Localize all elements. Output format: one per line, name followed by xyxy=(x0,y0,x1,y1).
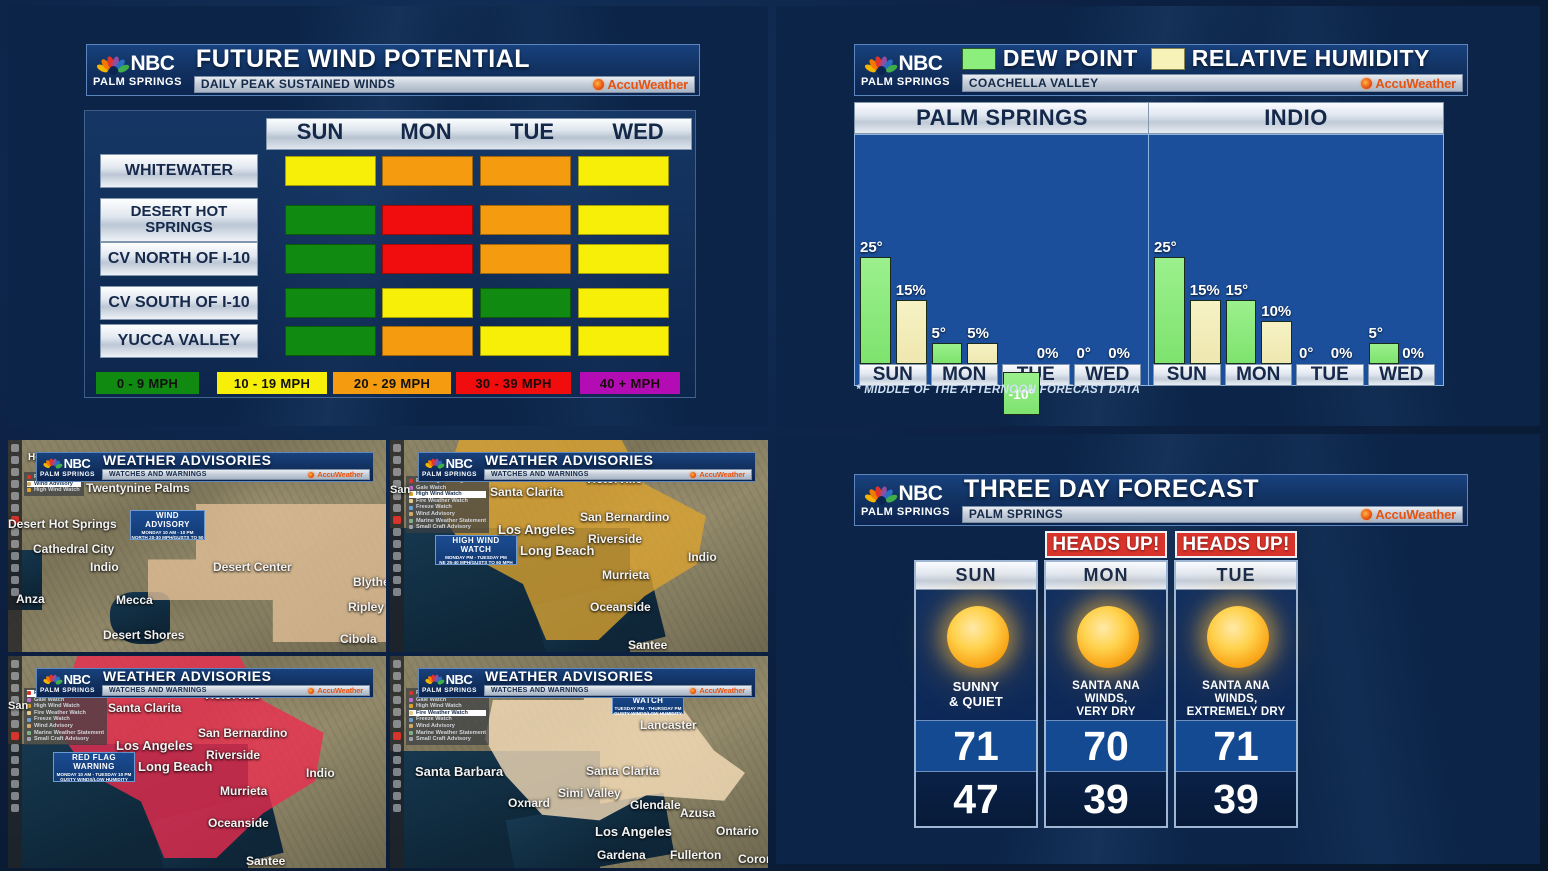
toolbar-icon[interactable] xyxy=(393,468,401,476)
legend-label: Small Craft Advisory xyxy=(416,736,471,743)
toolbar-icon[interactable] xyxy=(393,528,401,536)
map-legend-item[interactable]: Wind Advisory xyxy=(409,723,486,730)
heads-up-badge: HEADS UP! xyxy=(1045,531,1167,558)
toolbar-icon[interactable] xyxy=(11,720,19,728)
forecast-day-label: SUN xyxy=(916,562,1036,590)
station-name: PALM SPRINGS xyxy=(422,471,477,478)
map-legend-item[interactable]: Fire Weather Watch xyxy=(409,498,486,505)
map-legend-item[interactable]: Small Craft Advisory xyxy=(27,736,104,743)
accuweather-sun-icon xyxy=(1361,78,1372,89)
panel-title: FUTURE WIND POTENTIAL xyxy=(188,45,699,74)
map-legend-item[interactable]: Marine Weather Statement xyxy=(409,518,486,525)
toolbar-icon[interactable] xyxy=(11,780,19,788)
dew-point-swatch xyxy=(962,48,996,70)
map-place-label: Murrieta xyxy=(602,568,649,582)
relative-humidity-bar xyxy=(1190,300,1221,365)
nbc-station-logo: NBC PALM SPRINGS xyxy=(855,475,956,525)
header-main: WEATHER ADVISORIESWATCHES AND WARNINGSAc… xyxy=(480,453,755,481)
peacock-icon xyxy=(868,483,894,505)
accuweather-label: AccuWeather xyxy=(1375,507,1456,522)
map-legend-item[interactable]: Small Craft Advisory xyxy=(409,736,486,743)
screenshot-root: NBC PALM SPRINGS FUTURE WIND POTENTIAL D… xyxy=(0,0,1548,871)
toolbar-icon[interactable] xyxy=(393,768,401,776)
header-subtitle-strip: WATCHES AND WARNINGSAccuWeather xyxy=(484,469,752,480)
chart-day-label: SUN xyxy=(1153,364,1221,386)
wind-cell xyxy=(578,288,669,318)
accuweather-logo: AccuWeather xyxy=(593,77,688,92)
chart-footnote: * MIDDLE OF THE AFTERNOON FORECAST DATA xyxy=(856,384,1140,396)
forecast-low-temp: 39 xyxy=(1046,772,1166,826)
chart-day-label: MON xyxy=(931,364,999,386)
relative-humidity-value: 0% xyxy=(1037,345,1059,362)
dew-point-bar xyxy=(1226,300,1257,365)
map-legend-item[interactable]: Wind Advisory xyxy=(27,723,104,730)
wind-table-day-header: SUNMONTUEWED xyxy=(266,118,692,150)
map-place-label: Desert Shores xyxy=(103,628,184,642)
toolbar-icon[interactable] xyxy=(11,552,19,560)
map-place-label: Long Beach xyxy=(520,543,594,558)
toolbar-icon[interactable] xyxy=(11,732,19,740)
legend-label: Marine Weather Statement xyxy=(416,518,486,525)
map-place-label: Mecca xyxy=(116,593,153,607)
peacock-icon xyxy=(100,53,126,75)
map-place-label: Oceanside xyxy=(208,816,269,830)
network-name: NBC xyxy=(446,456,473,471)
panel-subtitle: WATCHES AND WARNINGS xyxy=(109,687,207,694)
wind-day-header-tue: TUE xyxy=(479,119,585,149)
map-place-label: Cathedral City xyxy=(33,542,114,556)
forecast-low-temp: 39 xyxy=(1176,772,1296,826)
accuweather-sun-icon xyxy=(690,472,696,478)
relative-humidity-bar xyxy=(967,343,998,365)
accuweather-label: AccuWeather xyxy=(699,470,745,479)
peacock-icon xyxy=(868,53,894,75)
chart-day-group: SUN25°15% xyxy=(859,134,927,386)
map-place-label: Corona xyxy=(738,852,768,866)
station-name: PALM SPRINGS xyxy=(861,506,950,518)
map-legend-item[interactable]: High Wind Watch xyxy=(27,703,104,710)
toolbar-icon[interactable] xyxy=(393,444,401,452)
toolbar-icon[interactable] xyxy=(393,696,401,704)
map-legend-item[interactable]: Freeze Watch xyxy=(409,716,486,723)
toolbar-icon[interactable] xyxy=(393,564,401,572)
toolbar-icon[interactable] xyxy=(393,720,401,728)
wind-day-header-sun: SUN xyxy=(267,119,373,149)
map-wind-advisory[interactable]: NBCPALM SPRINGSWEATHER ADVISORIESWATCHES… xyxy=(8,440,386,652)
toolbar-icon[interactable] xyxy=(11,768,19,776)
wind-row-label: CV NORTH OF I-10 xyxy=(100,242,258,276)
map-place-label: Simi Valley xyxy=(558,786,621,800)
accuweather-logo: AccuWeather xyxy=(308,686,363,695)
map-place-label: Twentynine Palms xyxy=(86,481,190,495)
toolbar-icon[interactable] xyxy=(11,576,19,584)
legend-swatch xyxy=(409,691,413,695)
toolbar-icon[interactable] xyxy=(393,576,401,584)
panel-subtitle: DAILY PEAK SUSTAINED WINDS xyxy=(201,77,395,91)
callout-line1: RED FLAG xyxy=(72,753,116,762)
toolbar-icon[interactable] xyxy=(393,792,401,800)
chart-day-group: TUE-10°0% xyxy=(1002,134,1070,386)
wind-cell xyxy=(285,288,376,318)
dew-point-value: 25° xyxy=(1154,239,1177,256)
toolbar-icon[interactable] xyxy=(11,492,19,500)
accuweather-sun-icon xyxy=(1361,509,1372,520)
map-legend-item[interactable]: High Wind Watch xyxy=(409,491,486,498)
map-place-label: Long Beach xyxy=(138,759,212,774)
legend-swatch xyxy=(27,718,31,722)
map-place-label: Santa Clarita xyxy=(586,764,659,778)
station-name: PALM SPRINGS xyxy=(422,687,477,694)
toolbar-icon[interactable] xyxy=(11,744,19,752)
map-legend-item[interactable]: Freeze Watch xyxy=(27,716,104,723)
wind-row-label: YUCCA VALLEY xyxy=(100,324,258,358)
map-legend-item[interactable]: High Wind Watch xyxy=(409,703,486,710)
map-place-label: Oxnard xyxy=(508,796,550,810)
chart-day-label: MON xyxy=(1225,364,1293,386)
legend-label: Marine Weather Statement xyxy=(34,730,104,737)
toolbar-icon[interactable] xyxy=(393,744,401,752)
nbc-station-logo: NBCPALM SPRINGS xyxy=(419,669,480,697)
accuweather-label: AccuWeather xyxy=(317,686,363,695)
wind-cell xyxy=(578,156,669,186)
map-place-label: Indio xyxy=(90,560,119,574)
toolbar-icon[interactable] xyxy=(393,456,401,464)
nbc-header-bar: NBCPALM SPRINGSWEATHER ADVISORIESWATCHES… xyxy=(418,668,756,698)
legend-label: High Wind Watch xyxy=(416,491,462,498)
panel-title: WEATHER ADVISORIES xyxy=(480,452,755,468)
wind-row-label: DESERT HOT SPRINGS xyxy=(100,198,258,242)
forecast-card[interactable]: MONSANTA ANA WINDS, VERY DRY7039 xyxy=(1044,560,1168,828)
dew-point-value: 5° xyxy=(1369,325,1383,342)
legend-label: Fire Weather Watch xyxy=(34,710,86,717)
map-place-label: Los Angeles xyxy=(595,824,672,839)
toolbar-icon[interactable] xyxy=(11,660,19,668)
map-legend-item[interactable]: Fire Weather Watch xyxy=(27,710,104,717)
relative-humidity-bar xyxy=(1261,321,1292,364)
toolbar-icon[interactable] xyxy=(393,756,401,764)
toolbar-icon[interactable] xyxy=(11,672,19,680)
accuweather-sun-icon xyxy=(308,472,314,478)
callout-line1: WIND xyxy=(156,511,179,520)
header-main: THREE DAY FORECAST PALM SPRINGS AccuWeat… xyxy=(956,475,1467,525)
map-place-label: Riverside xyxy=(588,532,642,546)
map-place-label: Santee xyxy=(628,638,667,652)
station-name: PALM SPRINGS xyxy=(40,687,95,694)
toolbar-icon[interactable] xyxy=(11,540,19,548)
network-name: NBC xyxy=(64,672,91,687)
station-name: PALM SPRINGS xyxy=(40,471,95,478)
chart-day-group: WED0°0% xyxy=(1074,134,1142,386)
chart-day-group: WED5°0% xyxy=(1368,134,1436,386)
map-place-label: Santa Clarita xyxy=(490,485,563,499)
map-legend-item[interactable]: Marine Weather Statement xyxy=(409,730,486,737)
dew-point-value: 5° xyxy=(932,325,946,342)
panel-subtitle: PALM SPRINGS xyxy=(969,507,1063,521)
toolbar-icon[interactable] xyxy=(393,672,401,680)
toolbar-icon[interactable] xyxy=(393,540,401,548)
nbc-header-bar: NBC PALM SPRINGS THREE DAY FORECAST PALM… xyxy=(854,474,1468,526)
wind-day-header-mon: MON xyxy=(373,119,479,149)
chart-day-group: SUN25°15% xyxy=(1153,134,1221,386)
legend-label: Wind Advisory xyxy=(416,511,455,518)
legend-swatch xyxy=(409,512,413,516)
map-high-wind-watch[interactable]: NBCPALM SPRINGSWEATHER ADVISORIESWATCHES… xyxy=(390,440,768,652)
callout-line4: NE 25-40 MPH/GUSTS TO 60 MPH xyxy=(439,560,512,565)
header-main: WEATHER ADVISORIESWATCHES AND WARNINGSAc… xyxy=(98,669,373,697)
relative-humidity-bar xyxy=(896,300,927,365)
nbc-header-bar: NBCPALM SPRINGSWEATHER ADVISORIESWATCHES… xyxy=(418,452,756,482)
chart-title: INDIO xyxy=(1148,102,1444,134)
wind-cell xyxy=(480,205,571,235)
accuweather-sun-icon xyxy=(593,79,604,90)
callout-line1: HIGH WIND xyxy=(452,536,499,545)
toolbar-icon[interactable] xyxy=(11,468,19,476)
forecast-card[interactable]: SUNSUNNY & QUIET7147 xyxy=(914,560,1038,828)
toolbar-icon[interactable] xyxy=(393,516,401,524)
toolbar-icon[interactable] xyxy=(11,804,19,812)
legend-swatch xyxy=(27,482,31,486)
map-legend-item[interactable]: Wind Advisory xyxy=(409,511,486,518)
map-place-label: San xyxy=(390,484,410,496)
map-legend-item[interactable]: Freeze Watch xyxy=(409,504,486,511)
network-name: NBC xyxy=(64,456,91,471)
network-name: NBC xyxy=(130,52,174,76)
header-subtitle-strip: WATCHES AND WARNINGSAccuWeather xyxy=(102,685,370,696)
map-place-label: Los Angeles xyxy=(498,522,575,537)
header-main: WEATHER ADVISORIESWATCHES AND WARNINGSAc… xyxy=(98,453,373,481)
map-place-label: Cibola xyxy=(340,632,377,646)
callout-line4: GUSTY WINDS/LOW HUMIDITY xyxy=(614,711,682,716)
toolbar-icon[interactable] xyxy=(393,552,401,560)
wind-cell xyxy=(480,288,571,318)
toolbar-icon[interactable] xyxy=(11,792,19,800)
legend-label: Fire Weather Watch xyxy=(416,710,468,717)
panel-three-day-forecast: NBC PALM SPRINGS THREE DAY FORECAST PALM… xyxy=(776,434,1540,864)
wind-cell xyxy=(285,326,376,356)
header-subtitle-strip: PALM SPRINGS AccuWeather xyxy=(962,506,1463,523)
nbc-station-logo: NBCPALM SPRINGS xyxy=(419,453,480,481)
map-place-label: Glendale xyxy=(630,798,681,812)
wind-row-label: CV SOUTH OF I-10 xyxy=(100,286,258,320)
toolbar-icon[interactable] xyxy=(393,780,401,788)
panel-subtitle: WATCHES AND WARNINGS xyxy=(109,471,207,478)
toolbar-icon[interactable] xyxy=(11,480,19,488)
map-place-label: San xyxy=(8,700,28,712)
legend-swatch xyxy=(409,737,413,741)
legend-label: Freeze Watch xyxy=(34,716,70,723)
sun-icon xyxy=(1077,606,1139,668)
map-toolbar[interactable] xyxy=(8,656,22,868)
nbc-header-bar: NBC PALM SPRINGS FUTURE WIND POTENTIAL D… xyxy=(86,44,700,96)
legend-label: Marine Weather Statement xyxy=(416,730,486,737)
toolbar-icon[interactable] xyxy=(11,684,19,692)
wind-cell xyxy=(578,244,669,274)
toolbar-icon[interactable] xyxy=(393,708,401,716)
relative-humidity-value: 15% xyxy=(896,282,926,299)
dew-point-bar xyxy=(860,257,891,365)
dew-point-value: 0° xyxy=(1299,345,1313,362)
toolbar-icon[interactable] xyxy=(393,804,401,812)
nbc-header-bar: NBC PALM SPRINGS DEW POINT RELATIVE HUMI… xyxy=(854,44,1468,96)
legend-swatch xyxy=(409,519,413,523)
legend-label: Gale Watch xyxy=(416,485,446,492)
legend-label: High Wind Watch xyxy=(34,487,80,494)
panel-dew-point-humidity: NBC PALM SPRINGS DEW POINT RELATIVE HUMI… xyxy=(776,6,1540,426)
legend-swatch xyxy=(27,724,31,728)
wind-day-header-wed: WED xyxy=(585,119,691,149)
legend-swatch xyxy=(409,698,413,702)
toolbar-icon[interactable] xyxy=(11,504,19,512)
accuweather-label: AccuWeather xyxy=(317,470,363,479)
map-place-label: Santa Barbara xyxy=(415,764,503,779)
map-place-label: Anza xyxy=(16,592,45,606)
header-subtitle-strip: DAILY PEAK SUSTAINED WINDS AccuWeather xyxy=(194,76,695,93)
panel-future-wind-potential: NBC PALM SPRINGS FUTURE WIND POTENTIAL D… xyxy=(8,6,768,426)
panel-title: WEATHER ADVISORIES xyxy=(480,668,755,684)
legend-swatch xyxy=(409,479,413,483)
map-place-label: San Bernardino xyxy=(580,510,669,524)
wind-cell xyxy=(382,205,473,235)
legend-label: Small Craft Advisory xyxy=(416,524,471,531)
panel-title: WEATHER ADVISORIES xyxy=(98,668,373,684)
legend-swatch xyxy=(409,718,413,722)
header-subtitle-strip: WATCHES AND WARNINGSAccuWeather xyxy=(102,469,370,480)
toolbar-icon[interactable] xyxy=(393,588,401,596)
toolbar-icon[interactable] xyxy=(393,684,401,692)
toolbar-icon[interactable] xyxy=(11,444,19,452)
toolbar-icon[interactable] xyxy=(11,456,19,464)
nbc-station-logo: NBCPALM SPRINGS xyxy=(37,669,98,697)
relative-humidity-title: RELATIVE HUMIDITY xyxy=(1192,45,1430,72)
map-legend: Red Flag WarningGale WatchHigh Wind Watc… xyxy=(406,476,489,533)
wind-cell xyxy=(285,244,376,274)
wind-cell xyxy=(382,244,473,274)
peacock-icon xyxy=(45,673,60,686)
legend-swatch xyxy=(409,731,413,735)
forecast-card[interactable]: TUESANTA ANA WINDS, EXTREMELY DRY7139 xyxy=(1174,560,1298,828)
nbc-header-bar: NBCPALM SPRINGSWEATHER ADVISORIESWATCHES… xyxy=(36,668,374,698)
dew-point-bar xyxy=(1369,343,1400,365)
header-main: DEW POINT RELATIVE HUMIDITY COACHELLA VA… xyxy=(956,45,1467,95)
station-name: PALM SPRINGS xyxy=(861,76,950,88)
relative-humidity-value: 10% xyxy=(1261,303,1291,320)
dew-point-bar xyxy=(1154,257,1185,365)
legend-label: Wind Advisory xyxy=(416,723,455,730)
accuweather-sun-icon xyxy=(308,688,314,694)
map-place-label: Fullerton xyxy=(670,848,721,862)
map-toolbar[interactable] xyxy=(390,440,404,652)
panel-subtitle: COACHELLA VALLEY xyxy=(969,76,1098,90)
callout-line2: ADVISORY xyxy=(145,520,190,529)
panel-subtitle: WATCHES AND WARNINGS xyxy=(491,687,589,694)
wind-cell xyxy=(480,326,571,356)
wind-cell xyxy=(480,244,571,274)
relative-humidity-value: 0% xyxy=(1331,345,1353,362)
map-legend-item[interactable]: Marine Weather Statement xyxy=(27,730,104,737)
map-place-label: Gardena xyxy=(597,848,646,862)
map-callout: RED FLAGWARNINGMONDAY 10 AM - TUESDAY 10… xyxy=(53,752,135,782)
wind-legend-item: 20 - 29 MPH xyxy=(333,372,451,394)
legend-swatch xyxy=(409,499,413,503)
legend-swatch xyxy=(409,506,413,510)
forecast-high-temp: 70 xyxy=(1046,720,1166,772)
map-place-label: Murrieta xyxy=(220,784,267,798)
map-toolbar[interactable] xyxy=(390,656,404,868)
peacock-icon xyxy=(427,673,442,686)
chart-day-group: MON15°10% xyxy=(1225,134,1293,386)
map-legend-item[interactable]: Fire Weather Watch xyxy=(409,710,486,717)
nbc-station-logo: NBCPALM SPRINGS xyxy=(37,453,98,481)
callout-line2: WARNING xyxy=(73,762,114,771)
wind-cell xyxy=(382,326,473,356)
legend-label: Wind Advisory xyxy=(34,723,73,730)
wind-legend-item: 0 - 9 MPH xyxy=(96,372,199,394)
header-main: FUTURE WIND POTENTIAL DAILY PEAK SUSTAIN… xyxy=(188,45,699,95)
toolbar-icon[interactable] xyxy=(11,564,19,572)
accuweather-logo: AccuWeather xyxy=(308,470,363,479)
dew-point-title: DEW POINT xyxy=(1003,45,1138,72)
map-toolbar[interactable] xyxy=(8,440,22,652)
toolbar-icon[interactable] xyxy=(393,504,401,512)
callout-line4: GUSTY WINDS/LOW HUMIDITY xyxy=(60,777,128,782)
map-fire-weather-watch[interactable]: NBCPALM SPRINGSWEATHER ADVISORIESWATCHES… xyxy=(390,656,768,868)
map-legend-item[interactable]: Small Craft Advisory xyxy=(409,524,486,531)
map-callout: WINDADVISORYMONDAY 10 AM - 10 PMNORTH 20… xyxy=(130,510,205,540)
panel-title: WEATHER ADVISORIES xyxy=(98,452,373,468)
callout-line2: WATCH xyxy=(461,545,492,554)
map-place-label: Oceanside xyxy=(590,600,651,614)
forecast-day-label: TUE xyxy=(1176,562,1296,590)
wind-cell xyxy=(382,156,473,186)
chart-day-group: TUE0°0% xyxy=(1296,134,1364,386)
legend-swatch xyxy=(27,475,31,479)
chart-day-label: WED xyxy=(1368,364,1436,386)
legend-swatch xyxy=(409,711,413,715)
chart-day-label: TUE xyxy=(1296,364,1364,386)
forecast-condition: SANTA ANA WINDS, EXTREMELY DRY xyxy=(1180,680,1292,720)
wind-cell xyxy=(578,205,669,235)
map-legend-item[interactable]: High Wind Watch xyxy=(27,487,81,494)
dew-point-value: 25° xyxy=(860,239,883,256)
wind-legend-item: 40 + MPH xyxy=(580,372,680,394)
map-place-label: Lancaster xyxy=(640,718,697,732)
map-callout: HIGH WINDWATCHMONDAY PM - TUESDAY PMNE 2… xyxy=(435,535,517,565)
forecast-condition: SUNNY & QUIET xyxy=(920,680,1032,710)
callout-line4: NORTH 20-30 MPH/GUSTS TO 50 xyxy=(132,535,204,540)
toolbar-icon[interactable] xyxy=(393,660,401,668)
legend-swatch xyxy=(27,731,31,735)
wind-cell xyxy=(480,156,571,186)
wind-cell xyxy=(285,205,376,235)
legend-label: Fire Weather Watch xyxy=(416,498,468,505)
forecast-high-temp: 71 xyxy=(916,720,1036,772)
nbc-header-bar: NBCPALM SPRINGSWEATHER ADVISORIESWATCHES… xyxy=(36,452,374,482)
accuweather-logo: AccuWeather xyxy=(1361,507,1456,522)
legend-label: High Wind Watch xyxy=(416,703,462,710)
accuweather-logo: AccuWeather xyxy=(690,470,745,479)
map-place-label: Desert Center xyxy=(213,560,292,574)
map-place-label: Santa Clarita xyxy=(108,701,181,715)
legend-swatch xyxy=(409,704,413,708)
map-red-flag-warning[interactable]: NBCPALM SPRINGSWEATHER ADVISORIESWATCHES… xyxy=(8,656,386,868)
accuweather-logo: AccuWeather xyxy=(1361,76,1456,91)
toolbar-icon[interactable] xyxy=(393,732,401,740)
legend-label: Freeze Watch xyxy=(416,504,452,511)
chart-title: PALM SPRINGS xyxy=(854,102,1150,134)
toolbar-icon[interactable] xyxy=(11,756,19,764)
legend-label: High Wind Watch xyxy=(34,703,80,710)
map-legend-item[interactable]: Gale Watch xyxy=(409,485,486,492)
